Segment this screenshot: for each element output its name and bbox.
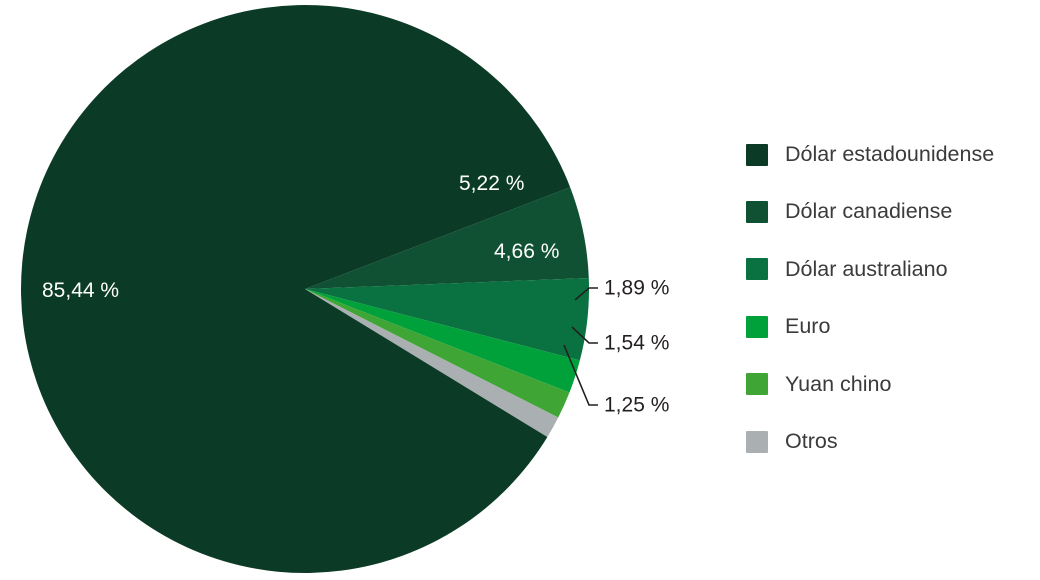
- legend-item[interactable]: Euro: [746, 298, 1036, 355]
- legend-item-label: Yuan chino: [785, 374, 891, 396]
- legend-item[interactable]: Otros: [746, 413, 1036, 470]
- chart-canvas: 85,44 %5,22 %4,66 %1,89 %1,54 %1,25 % Dó…: [0, 0, 1040, 580]
- legend-color-swatch: [746, 258, 768, 280]
- slice-value-label: 5,22 %: [459, 172, 524, 195]
- legend-item-label: Dólar australiano: [785, 259, 948, 281]
- legend-color-swatch: [746, 316, 768, 338]
- legend-item-label: Dólar estadounidense: [785, 144, 994, 166]
- legend-item-label: Otros: [785, 431, 838, 453]
- legend-item-label: Dólar canadiense: [785, 201, 952, 223]
- slice-callout-label: 1,89 %: [604, 277, 669, 300]
- chart-legend: Dólar estadounidenseDólar canadienseDóla…: [746, 126, 1036, 470]
- legend-color-swatch: [746, 431, 768, 453]
- slice-value-label: 4,66 %: [494, 240, 559, 263]
- legend-item[interactable]: Dólar australiano: [746, 241, 1036, 298]
- legend-color-swatch: [746, 144, 768, 166]
- legend-item[interactable]: Dólar estadounidense: [746, 126, 1036, 183]
- legend-item-label: Euro: [785, 316, 830, 338]
- slice-value-label: 85,44 %: [42, 279, 119, 302]
- legend-color-swatch: [746, 201, 768, 223]
- legend-color-swatch: [746, 373, 768, 395]
- slice-callout-label: 1,54 %: [604, 332, 669, 355]
- legend-item[interactable]: Yuan chino: [746, 356, 1036, 413]
- legend-item[interactable]: Dólar canadiense: [746, 183, 1036, 240]
- slice-callout-label: 1,25 %: [604, 394, 669, 417]
